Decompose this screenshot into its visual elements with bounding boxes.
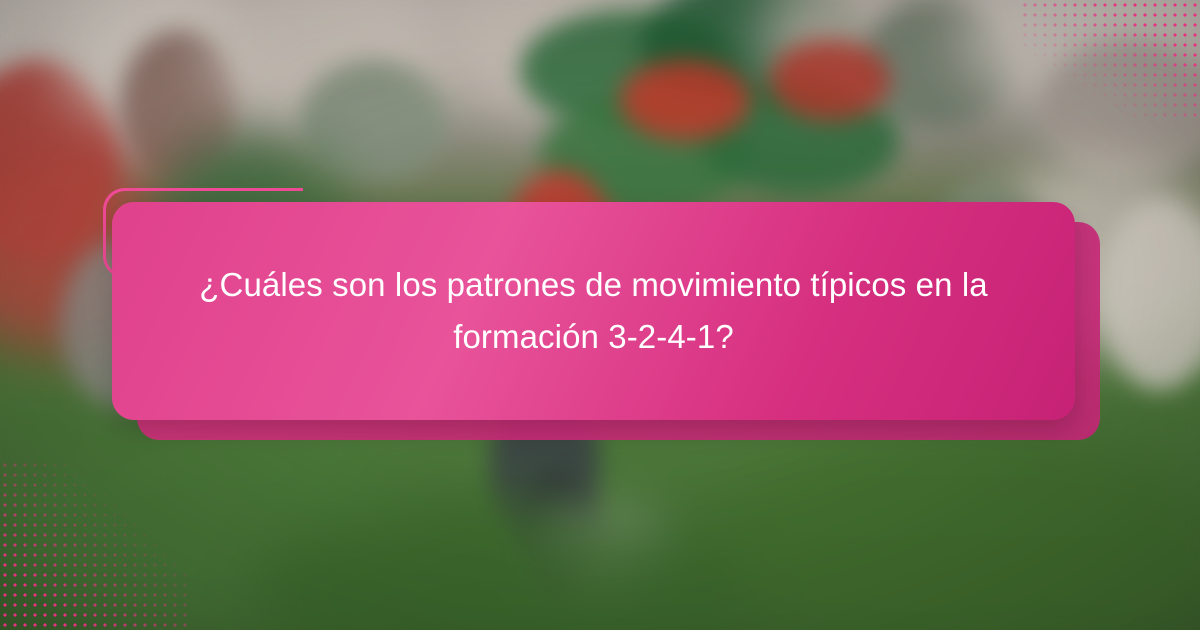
dot-pattern-top-right	[1020, 0, 1200, 120]
dot-pattern-bottom-left	[0, 460, 190, 630]
question-title: ¿Cuáles son los patrones de movimiento t…	[174, 259, 1014, 363]
share-card-page: ¿Cuáles son los patrones de movimiento t…	[0, 0, 1200, 630]
question-card: ¿Cuáles son los patrones de movimiento t…	[112, 202, 1075, 420]
